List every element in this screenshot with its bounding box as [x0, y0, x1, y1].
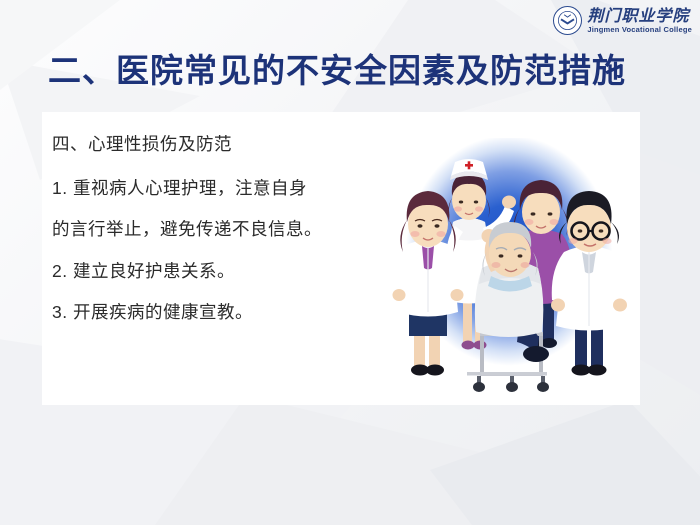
presentation-slide: 荆门职业学院 Jingmen Vocational College 二、医院常见…: [0, 0, 700, 525]
hospital-care-team-illustration: [379, 136, 634, 398]
content-line: 3. 开展疾病的健康宣教。: [52, 304, 402, 322]
college-emblem-icon: [553, 6, 582, 35]
male-doctor-figure: [551, 191, 627, 376]
content-line: 2. 建立良好护患关系。: [52, 263, 402, 281]
college-name-chinese: 荆门职业学院: [587, 8, 692, 24]
background-facet: [120, 395, 540, 525]
content-text-block: 四、心理性损伤及防范 1. 重视病人心理护理，注意自身 的言行举止，避免传递不良…: [52, 136, 402, 346]
slide-title: 二、医院常见的不安全因素及防范措施: [48, 44, 660, 92]
college-name-english: Jingmen Vocational College: [587, 26, 692, 34]
content-panel: 四、心理性损伤及防范 1. 重视病人心理护理，注意自身 的言行举止，避免传递不良…: [42, 112, 640, 405]
female-doctor-figure: [393, 191, 464, 376]
background-facet: [430, 400, 700, 525]
content-line: 四、心理性损伤及防范: [52, 136, 402, 154]
content-line: 1. 重视病人心理护理，注意自身: [52, 180, 402, 198]
college-wordmark: 荆门职业学院 Jingmen Vocational College: [587, 8, 692, 34]
content-line: 的言行举止，避免传递不良信息。: [52, 221, 402, 239]
college-logo: 荆门职业学院 Jingmen Vocational College: [553, 6, 692, 35]
